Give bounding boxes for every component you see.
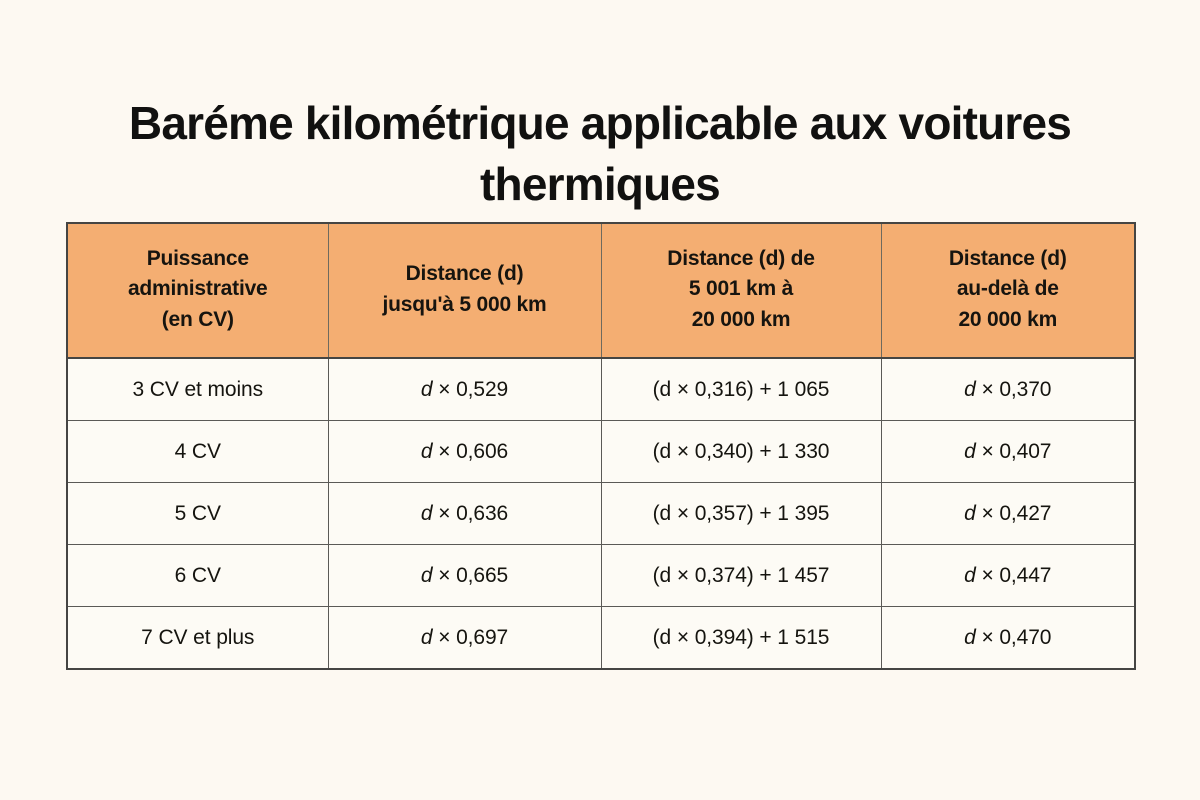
cell-distance-au-dela-20000: d × 0,370	[881, 358, 1135, 421]
distance-variable: d	[421, 626, 433, 649]
distance-coefficient: × 0,407	[976, 440, 1052, 463]
infographic-page: Baréme kilométrique applicable aux voitu…	[0, 0, 1200, 800]
distance-coefficient: × 0,447	[976, 564, 1052, 587]
cell-distance-au-dela-20000: d × 0,447	[881, 545, 1135, 607]
distance-coefficient: × 0,529	[432, 378, 508, 401]
distance-coefficient: × 0,665	[432, 564, 508, 587]
distance-coefficient: × 0,427	[976, 502, 1052, 525]
table-body: 3 CV et moinsd × 0,529(d × 0,316) + 1 06…	[67, 358, 1135, 669]
bareme-table-container: Puissanceadministrative(en CV) Distance …	[66, 222, 1134, 670]
table-row: 6 CVd × 0,665(d × 0,374) + 1 457d × 0,44…	[67, 545, 1135, 607]
column-header-line: 5 001 km à	[612, 274, 871, 304]
table-row: 3 CV et moinsd × 0,529(d × 0,316) + 1 06…	[67, 358, 1135, 421]
table-row: 7 CV et plusd × 0,697(d × 0,394) + 1 515…	[67, 607, 1135, 670]
column-header-distance-5001-20000: Distance (d) de5 001 km à20 000 km	[601, 223, 881, 358]
cell-distance-jusqu-5000: d × 0,636	[328, 483, 601, 545]
column-header-distance-jusqu-5000: Distance (d)jusqu'à 5 000 km	[328, 223, 601, 358]
distance-variable: d	[964, 378, 976, 401]
cell-puissance: 4 CV	[67, 421, 328, 483]
table-row: 5 CVd × 0,636(d × 0,357) + 1 395d × 0,42…	[67, 483, 1135, 545]
distance-coefficient: × 0,697	[432, 626, 508, 649]
column-header-line: Distance (d) de	[612, 244, 871, 274]
distance-variable: d	[964, 502, 976, 525]
distance-coefficient: × 0,370	[976, 378, 1052, 401]
distance-coefficient: × 0,470	[976, 626, 1052, 649]
cell-distance-5001-20000: (d × 0,394) + 1 515	[601, 607, 881, 670]
column-header-line: 20 000 km	[892, 305, 1125, 335]
column-header-line: Distance (d)	[892, 244, 1125, 274]
bareme-kilometrique-table: Puissanceadministrative(en CV) Distance …	[66, 222, 1136, 670]
table-header-row: Puissanceadministrative(en CV) Distance …	[67, 223, 1135, 358]
column-header-line: au-delà de	[892, 274, 1125, 304]
distance-variable: d	[421, 564, 433, 587]
cell-distance-5001-20000: (d × 0,340) + 1 330	[601, 421, 881, 483]
cell-distance-au-dela-20000: d × 0,470	[881, 607, 1135, 670]
distance-variable: d	[421, 378, 433, 401]
distance-variable: d	[964, 564, 976, 587]
column-header-distance-au-dela-20000: Distance (d)au-delà de20 000 km	[881, 223, 1135, 358]
column-header-line: 20 000 km	[612, 305, 871, 335]
table-row: 4 CVd × 0,606(d × 0,340) + 1 330d × 0,40…	[67, 421, 1135, 483]
cell-distance-au-dela-20000: d × 0,407	[881, 421, 1135, 483]
cell-distance-5001-20000: (d × 0,316) + 1 065	[601, 358, 881, 421]
cell-distance-jusqu-5000: d × 0,697	[328, 607, 601, 670]
cell-distance-jusqu-5000: d × 0,665	[328, 545, 601, 607]
column-header-line: (en CV)	[78, 305, 318, 335]
cell-puissance: 6 CV	[67, 545, 328, 607]
column-header-line: jusqu'à 5 000 km	[339, 290, 591, 320]
distance-variable: d	[421, 502, 433, 525]
column-header-line: Puissance	[78, 244, 318, 274]
distance-variable: d	[964, 626, 976, 649]
distance-coefficient: × 0,606	[432, 440, 508, 463]
cell-distance-5001-20000: (d × 0,357) + 1 395	[601, 483, 881, 545]
cell-puissance: 3 CV et moins	[67, 358, 328, 421]
cell-distance-jusqu-5000: d × 0,529	[328, 358, 601, 421]
cell-distance-au-dela-20000: d × 0,427	[881, 483, 1135, 545]
distance-variable: d	[421, 440, 433, 463]
cell-puissance: 7 CV et plus	[67, 607, 328, 670]
distance-coefficient: × 0,636	[432, 502, 508, 525]
page-title: Baréme kilométrique applicable aux voitu…	[0, 93, 1200, 215]
column-header-line: administrative	[78, 274, 318, 304]
cell-puissance: 5 CV	[67, 483, 328, 545]
column-header-puissance-administrative: Puissanceadministrative(en CV)	[67, 223, 328, 358]
column-header-line: Distance (d)	[339, 259, 591, 289]
cell-distance-5001-20000: (d × 0,374) + 1 457	[601, 545, 881, 607]
table-header: Puissanceadministrative(en CV) Distance …	[67, 223, 1135, 358]
distance-variable: d	[964, 440, 976, 463]
cell-distance-jusqu-5000: d × 0,606	[328, 421, 601, 483]
